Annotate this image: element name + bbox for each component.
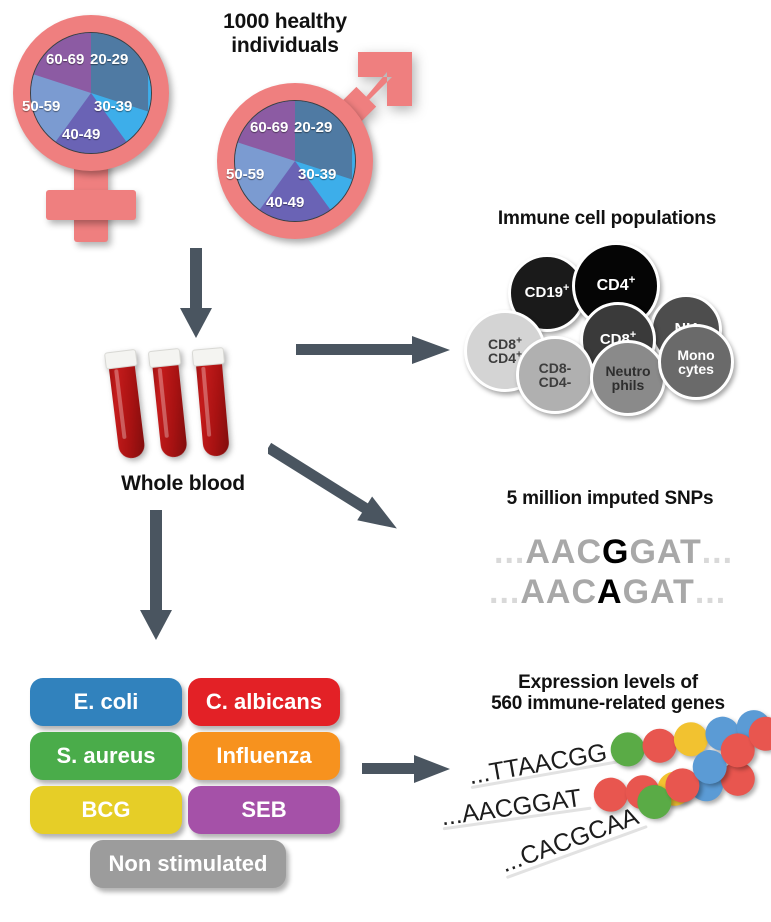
stimulation-influenza[interactable]: Influenza — [188, 732, 340, 780]
stimulation-non-stimulated[interactable]: Non stimulated — [90, 840, 286, 888]
stimulation-calbicans[interactable]: C. albicans — [188, 678, 340, 726]
immune-cell-label: CD8-CD4- — [539, 361, 572, 390]
immune-cell-label: Monocytes — [677, 348, 714, 377]
cohort-heading-line1: 1000 healthy — [170, 10, 400, 34]
immune-cell-label: Neutrophils — [605, 364, 650, 393]
snps-heading: 5 million imputed SNPs — [460, 488, 760, 509]
snp-tail-dots: ... — [702, 533, 733, 572]
pie-label-20-29: 20-29 — [90, 51, 128, 68]
expression-heading-line1: Expression levels of — [450, 672, 766, 693]
gene-bead — [640, 726, 679, 765]
pie-label-40-49: 40-49 — [266, 194, 304, 211]
cohort-heading-line2: individuals — [170, 34, 400, 58]
arrow-stimulation-to-expression — [362, 748, 452, 792]
stimulation-ecoli[interactable]: E. coli — [30, 678, 182, 726]
snp-variant-base: A — [597, 573, 623, 612]
immune-cell-cluster: CD19+ CD4+ NK CD8+ CD8+CD4+ CD8-CD4- Neu… — [462, 240, 762, 420]
blood-tube-cap — [192, 347, 225, 367]
snp-prefix-dots: ... — [494, 533, 525, 572]
pie-label-40-49: 40-49 — [62, 126, 100, 143]
whole-blood-group: Whole blood — [110, 340, 270, 500]
snp-tail-dots: ... — [695, 573, 726, 612]
arrow-cohort-to-blood — [178, 248, 214, 340]
female-symbol-crossbar — [46, 190, 136, 220]
blood-tube — [107, 349, 146, 459]
gene-strand-group: ...TTAACGG ...AACGGAT ...CACGCAA — [440, 740, 770, 910]
immune-cell-label: CD8+CD4+ — [488, 337, 522, 366]
pie-label-60-69: 60-69 — [250, 119, 288, 136]
stimulation-bcg[interactable]: BCG — [30, 786, 182, 834]
snp-allele-row: ...AACGGAT... — [494, 533, 733, 572]
pie-label-20-29: 20-29 — [294, 119, 332, 136]
immune-cell-monocytes: Monocytes — [658, 324, 734, 400]
snp-variant-base: G — [602, 533, 629, 572]
pie-label-50-59: 50-59 — [226, 166, 264, 183]
blood-tube-cap — [148, 348, 182, 368]
expression-heading-line2: 560 immune-related genes — [450, 693, 766, 714]
arrow-blood-to-stimulation — [138, 510, 174, 642]
cohort-heading: 1000 healthy individuals — [170, 10, 400, 57]
snp-prefix-dots: ... — [489, 573, 520, 612]
snp-allele-row: ...AACAGAT... — [489, 573, 726, 612]
pie-label-50-59: 50-59 — [22, 98, 60, 115]
blood-tube — [151, 348, 188, 458]
snp-suffix-bases: GAT — [623, 573, 695, 612]
snp-suffix-bases: GAT — [629, 533, 701, 572]
pie-label-30-39: 30-39 — [298, 166, 336, 183]
immune-cell-label: CD19+ — [525, 285, 570, 300]
immune-cell-cd8neg-cd4neg: CD8-CD4- — [516, 336, 594, 414]
arrow-blood-to-immune — [296, 322, 456, 382]
male-symbol: 20-29 30-39 40-49 50-59 60-69 — [206, 30, 431, 245]
arrow-blood-to-snps — [268, 428, 458, 548]
snp-bases: AAC — [520, 573, 597, 612]
whole-blood-label: Whole blood — [88, 472, 278, 496]
stimulation-saureus[interactable]: S. aureus — [30, 732, 182, 780]
stimulation-seb[interactable]: SEB — [188, 786, 340, 834]
immune-heading: Immune cell populations — [452, 208, 762, 229]
stimulation-panel: E. coli C. albicans S. aureus Influenza … — [30, 678, 342, 894]
immune-cell-label: CD4+ — [597, 278, 636, 294]
pie-label-30-39: 30-39 — [94, 98, 132, 115]
blood-tube — [195, 347, 230, 457]
snp-bases: AAC — [525, 533, 602, 572]
immune-cell-neutrophils: Neutrophils — [590, 340, 666, 416]
expression-heading: Expression levels of 560 immune-related … — [450, 672, 766, 715]
pie-label-60-69: 60-69 — [46, 51, 84, 68]
